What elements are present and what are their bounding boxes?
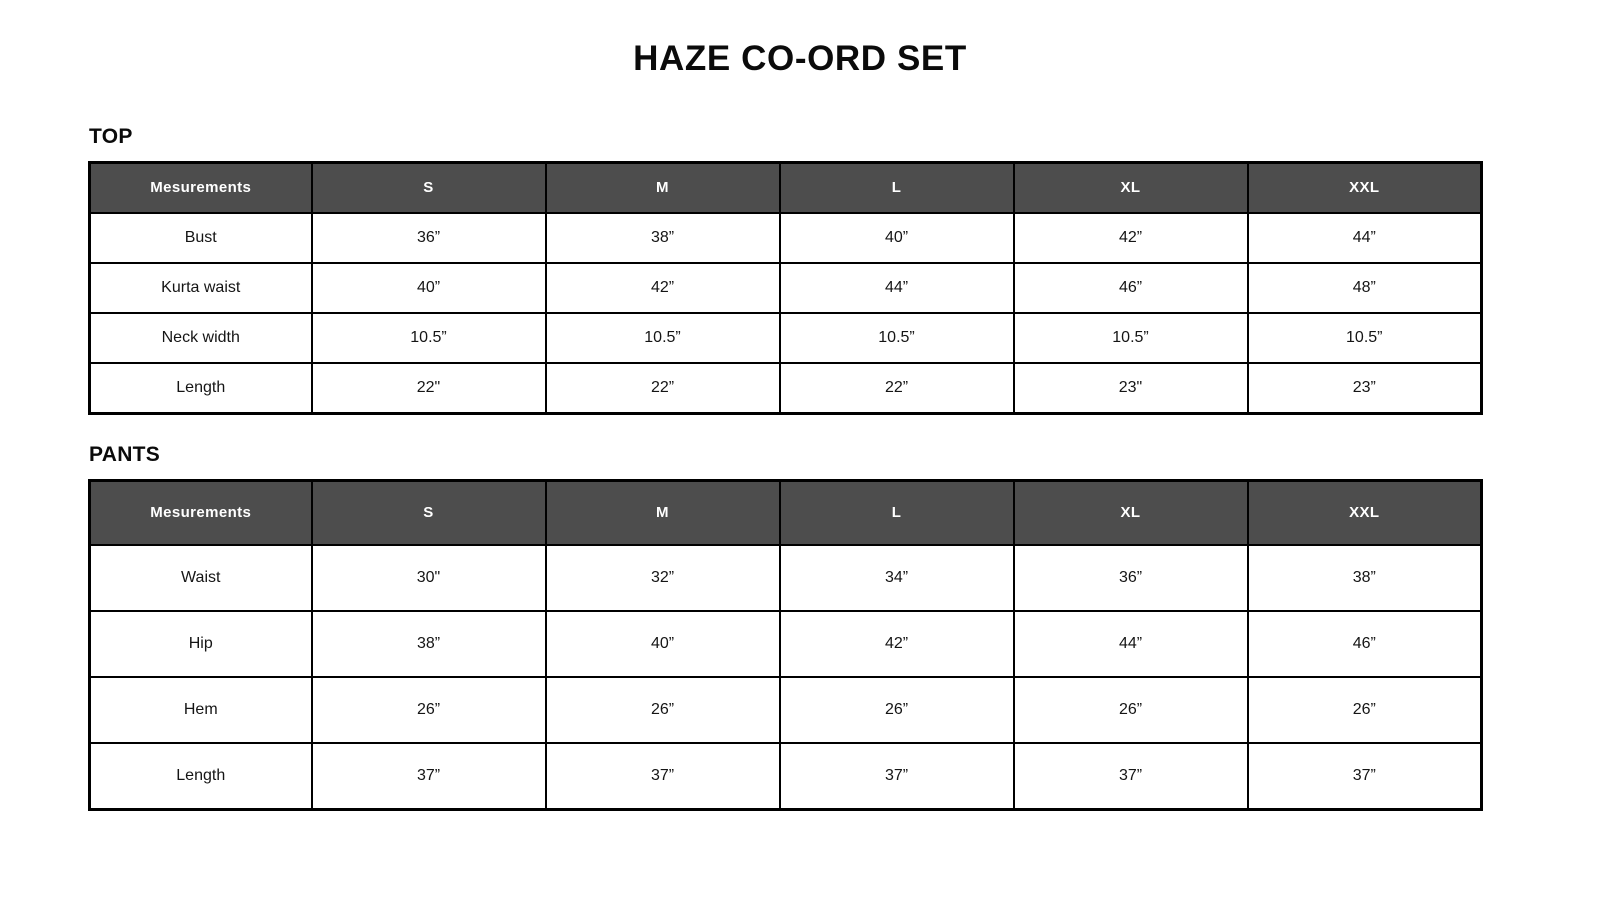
row-label: Bust [90,213,312,263]
cell-value: 26” [312,677,546,743]
column-header-s: S [312,480,546,545]
cell-value: 10.5” [546,313,780,363]
cell-value: 32” [546,545,780,611]
size-chart-page: HAZE CO-ORD SET TOP Mesurements S M L XL… [0,23,1600,923]
cell-value: 38” [312,611,546,677]
cell-value: 10.5” [1248,313,1482,363]
row-label: Hem [90,677,312,743]
cell-value: 36” [1014,545,1248,611]
section-label-pants: PANTS [89,443,1512,467]
column-header-xxl: XXL [1248,480,1482,545]
row-label: Neck width [90,313,312,363]
cell-value: 26” [780,677,1014,743]
page-title: HAZE CO-ORD SET [0,23,1600,79]
row-label: Length [90,363,312,414]
cell-value: 40” [312,263,546,313]
cell-value: 37” [1014,743,1248,810]
cell-value: 42” [546,263,780,313]
table-row: Waist 30" 32” 34” 36” 38” [90,545,1482,611]
cell-value: 38” [546,213,780,263]
cell-value: 34” [780,545,1014,611]
section-top: TOP Mesurements S M L XL XXL Bust 36” [88,125,1512,415]
column-header-xl: XL [1014,162,1248,213]
cell-value: 26” [546,677,780,743]
size-table-pants: Mesurements S M L XL XXL Waist 30" 32” 3… [88,479,1483,811]
section-pants: PANTS Mesurements S M L XL XXL Waist 30" [88,443,1512,811]
cell-value: 26” [1248,677,1482,743]
table-row: Kurta waist 40” 42” 44” 46” 48” [90,263,1482,313]
cell-value: 42” [780,611,1014,677]
cell-value: 26” [1014,677,1248,743]
cell-value: 37” [312,743,546,810]
cell-value: 37” [546,743,780,810]
column-header-measurements: Mesurements [90,162,312,213]
size-table-top: Mesurements S M L XL XXL Bust 36” 38” 40… [88,161,1483,415]
cell-value: 44” [1014,611,1248,677]
section-label-top: TOP [89,125,1512,149]
row-label: Length [90,743,312,810]
cell-value: 40” [780,213,1014,263]
table-row: Length 37” 37” 37” 37” 37” [90,743,1482,810]
cell-value: 23” [1248,363,1482,414]
cell-value: 36” [312,213,546,263]
table-header-row: Mesurements S M L XL XXL [90,480,1482,545]
cell-value: 37” [1248,743,1482,810]
table-header-row: Mesurements S M L XL XXL [90,162,1482,213]
column-header-m: M [546,162,780,213]
cell-value: 44” [1248,213,1482,263]
cell-value: 40” [546,611,780,677]
column-header-s: S [312,162,546,213]
cell-value: 46” [1248,611,1482,677]
cell-value: 10.5” [312,313,546,363]
cell-value: 46” [1014,263,1248,313]
cell-value: 23" [1014,363,1248,414]
table-row: Neck width 10.5” 10.5” 10.5” 10.5” 10.5” [90,313,1482,363]
cell-value: 44” [780,263,1014,313]
cell-value: 10.5” [1014,313,1248,363]
cell-value: 22" [312,363,546,414]
table-row: Hem 26” 26” 26” 26” 26” [90,677,1482,743]
row-label: Waist [90,545,312,611]
column-header-xl: XL [1014,480,1248,545]
column-header-measurements: Mesurements [90,480,312,545]
cell-value: 42” [1014,213,1248,263]
column-header-m: M [546,480,780,545]
row-label: Kurta waist [90,263,312,313]
cell-value: 22” [546,363,780,414]
row-label: Hip [90,611,312,677]
cell-value: 37” [780,743,1014,810]
column-header-l: L [780,162,1014,213]
cell-value: 10.5” [780,313,1014,363]
table-row: Length 22" 22” 22” 23" 23” [90,363,1482,414]
cell-value: 30" [312,545,546,611]
column-header-xxl: XXL [1248,162,1482,213]
column-header-l: L [780,480,1014,545]
cell-value: 48” [1248,263,1482,313]
table-row: Bust 36” 38” 40” 42” 44” [90,213,1482,263]
cell-value: 22” [780,363,1014,414]
cell-value: 38” [1248,545,1482,611]
table-row: Hip 38” 40” 42” 44” 46” [90,611,1482,677]
